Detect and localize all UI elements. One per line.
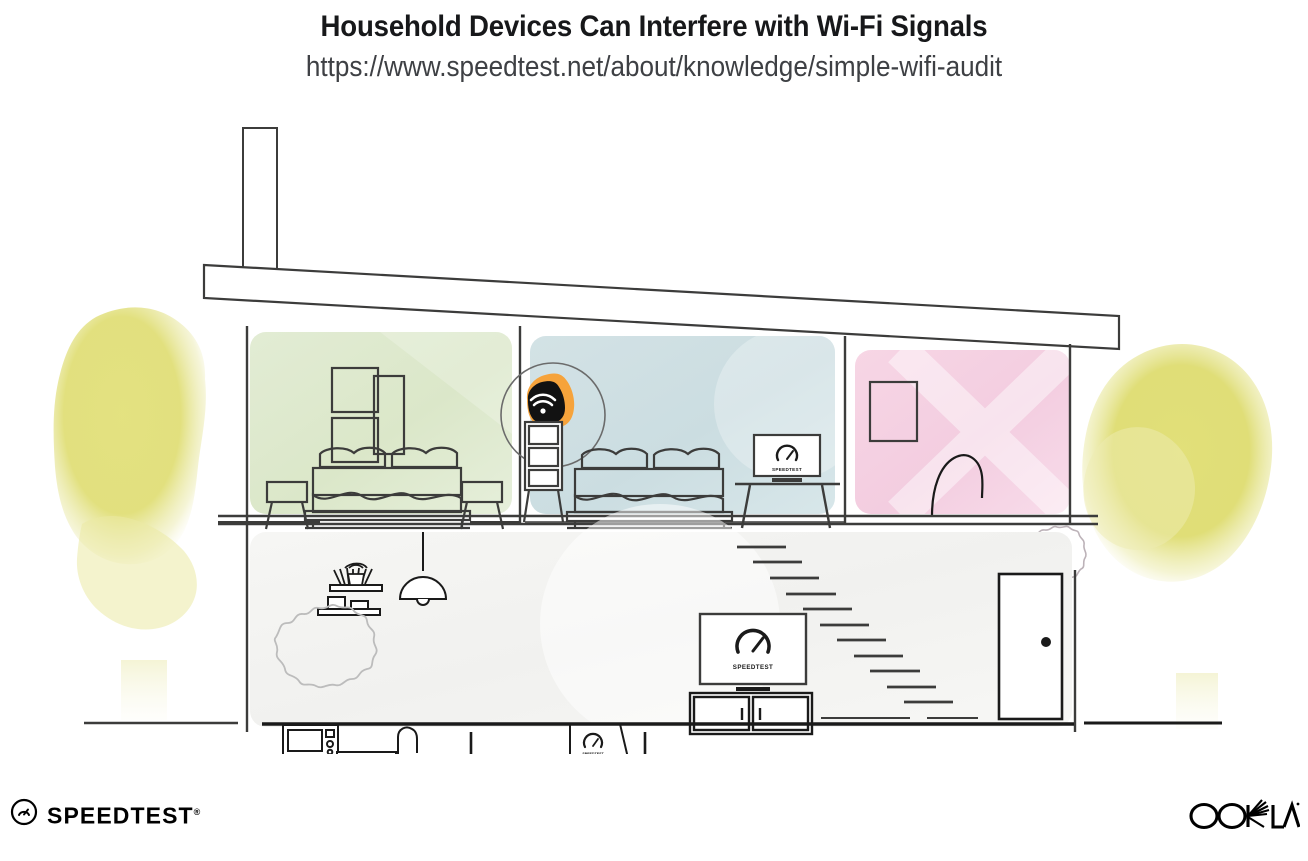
wifi-router	[527, 373, 574, 428]
laptop-screen-label: SPEEDTEST	[582, 752, 604, 754]
source-url: https://www.speedtest.net/about/knowledg…	[65, 45, 1242, 84]
tree-left	[54, 307, 206, 720]
infographic-canvas: Household Devices Can Interfere with Wi-…	[0, 0, 1308, 861]
house-illustration: SPEEDTEST	[0, 104, 1308, 754]
monitor: SPEEDTEST	[754, 435, 820, 482]
header: Household Devices Can Interfere with Wi-…	[0, 0, 1308, 108]
door-knob	[1041, 637, 1051, 647]
speedtest-wordmark: SPEEDTEST®	[47, 801, 200, 828]
ookla-logo: OOKLA	[1188, 798, 1300, 837]
bedroom-left	[250, 332, 512, 514]
chimney	[243, 128, 277, 280]
speedtest-wordmark-text: SPEEDTEST	[47, 803, 194, 829]
tv-screen-label: SPEEDTEST	[733, 664, 773, 671]
tv: SPEEDTEST	[700, 614, 806, 691]
microwave	[283, 725, 338, 754]
speedtest-trademark: ®	[194, 807, 201, 817]
bedroom-middle	[530, 328, 866, 514]
living-kitchen	[250, 504, 1072, 744]
door	[999, 574, 1062, 719]
footer: SPEEDTEST® OOKLA	[0, 770, 1308, 861]
page-title: Household Devices Can Interfere with Wi-…	[52, 0, 1255, 45]
nursery-right	[855, 350, 1070, 514]
speedtest-logo: SPEEDTEST®	[10, 798, 200, 831]
speedtest-gauge-icon	[10, 798, 38, 831]
monitor-screen-label: SPEEDTEST	[772, 467, 802, 472]
sink-faucet	[398, 727, 417, 754]
media-console	[690, 693, 812, 734]
shelf-upper	[330, 585, 382, 591]
tree-right	[1082, 344, 1272, 729]
chair-left	[471, 732, 511, 754]
